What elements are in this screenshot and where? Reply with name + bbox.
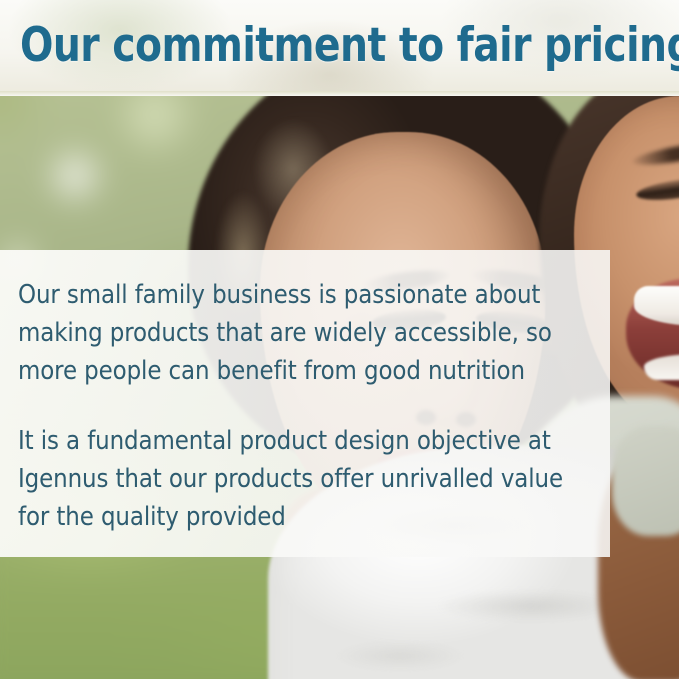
- body-paragraph-1: Our small family business is passionate …: [18, 276, 594, 390]
- page-title: Our commitment to fair pricing: [20, 12, 625, 80]
- fair-pricing-banner: Our commitment to fair pricing: [0, 0, 679, 679]
- girl-sleeve: [612, 426, 679, 536]
- girl-eyebrow: [631, 138, 679, 169]
- text-overlay-panel: Our small family business is passionate …: [0, 250, 610, 557]
- body-paragraph-2: It is a fundamental product design objec…: [18, 422, 594, 536]
- girl-eye: [635, 174, 679, 204]
